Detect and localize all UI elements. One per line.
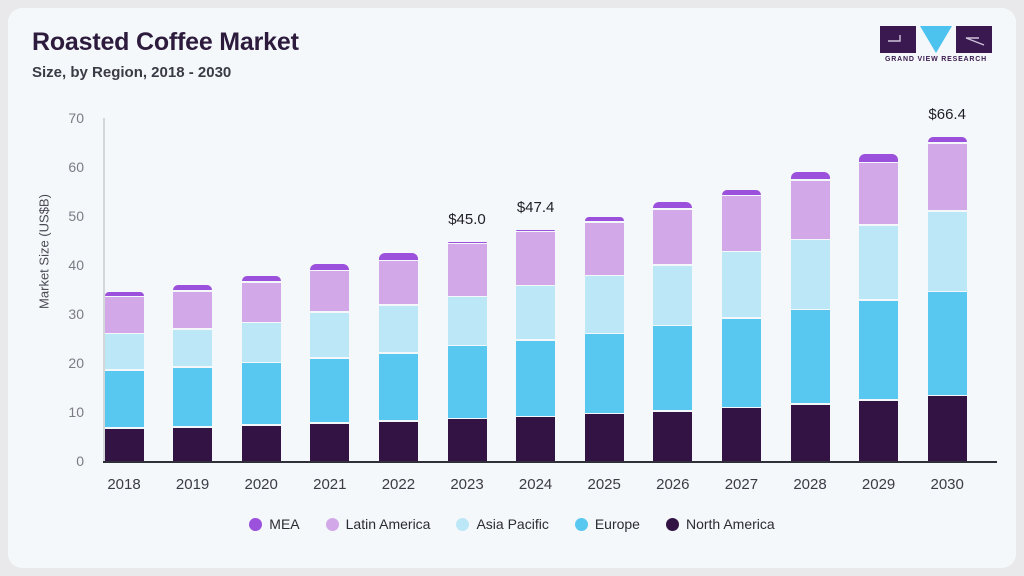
legend-swatch-icon <box>326 518 339 531</box>
legend-swatch-icon <box>575 518 588 531</box>
y-axis-tick-60: 60 <box>44 159 84 175</box>
bar-segment-2025-north-america[interactable] <box>585 414 624 461</box>
y-axis-tick-10: 10 <box>44 404 84 420</box>
bar-segment-2024-latin-america[interactable] <box>516 232 555 284</box>
bar-segment-2023-asia-pacific[interactable] <box>448 297 487 345</box>
bar-segment-2026-north-america[interactable] <box>653 412 692 461</box>
bar-segment-2022-mea[interactable] <box>379 253 418 259</box>
legend-item-europe[interactable]: Europe <box>575 516 640 532</box>
bar-segment-2028-north-america[interactable] <box>791 405 830 461</box>
legend-label: MEA <box>269 516 299 532</box>
legend-label: Europe <box>595 516 640 532</box>
bar-segment-2030-north-america[interactable] <box>928 396 967 461</box>
bar-segment-2019-asia-pacific[interactable] <box>173 330 212 367</box>
legend-label: North America <box>686 516 775 532</box>
legend-item-latin-america[interactable]: Latin America <box>326 516 431 532</box>
legend-swatch-icon <box>249 518 262 531</box>
bar-segment-2020-asia-pacific[interactable] <box>242 323 281 361</box>
bar-segment-2023-north-america[interactable] <box>448 419 487 461</box>
bar-segment-2021-north-america[interactable] <box>310 424 349 461</box>
bar-segment-2027-europe[interactable] <box>722 319 761 407</box>
legend-label: Latin America <box>346 516 431 532</box>
legend-item-asia-pacific[interactable]: Asia Pacific <box>456 516 548 532</box>
bar-segment-2027-mea[interactable] <box>722 190 761 195</box>
bar-segment-2024-north-america[interactable] <box>516 417 555 461</box>
legend-swatch-icon <box>456 518 469 531</box>
bar-segment-2022-europe[interactable] <box>379 354 418 421</box>
chart-card: Roasted Coffee Market Size, by Region, 2… <box>8 8 1016 568</box>
bar-segment-2029-mea[interactable] <box>859 154 898 161</box>
bar-segment-2030-mea[interactable] <box>928 137 967 142</box>
bar-segment-2030-europe[interactable] <box>928 292 967 394</box>
y-axis-tick-30: 30 <box>44 306 84 322</box>
bar-segment-2027-north-america[interactable] <box>722 408 761 461</box>
bar-segment-2018-mea[interactable] <box>105 292 144 296</box>
y-axis-tick-50: 50 <box>44 208 84 224</box>
bar-segment-2029-latin-america[interactable] <box>859 163 898 224</box>
bar-segment-2020-europe[interactable] <box>242 363 281 424</box>
stacked-bar-chart: Market Size (US$B) 010203040506070201820… <box>8 8 1016 568</box>
bar-segment-2028-europe[interactable] <box>791 310 830 403</box>
y-axis-tick-0: 0 <box>44 453 84 469</box>
bar-segment-2029-north-america[interactable] <box>859 401 898 461</box>
legend-item-north-america[interactable]: North America <box>666 516 775 532</box>
bar-segment-2025-mea[interactable] <box>585 217 624 222</box>
bar-value-label-2030: $66.4 <box>902 106 992 123</box>
y-axis-tick-70: 70 <box>44 110 84 126</box>
bar-segment-2030-asia-pacific[interactable] <box>928 212 967 291</box>
bar-value-label-2024: $47.4 <box>491 199 581 216</box>
bar-segment-2029-asia-pacific[interactable] <box>859 226 898 299</box>
bar-segment-2025-latin-america[interactable] <box>585 223 624 275</box>
bar-segment-2024-mea[interactable] <box>516 230 555 231</box>
bar-segment-2023-europe[interactable] <box>448 346 487 418</box>
bar-segment-2024-europe[interactable] <box>516 341 555 416</box>
bar-segment-2026-mea[interactable] <box>653 202 692 208</box>
bar-segment-2028-latin-america[interactable] <box>791 181 830 239</box>
bar-segment-2026-europe[interactable] <box>653 326 692 410</box>
bar-segment-2022-latin-america[interactable] <box>379 261 418 304</box>
bar-segment-2026-asia-pacific[interactable] <box>653 266 692 325</box>
bar-segment-2018-latin-america[interactable] <box>105 297 144 332</box>
bar-segment-2029-europe[interactable] <box>859 301 898 399</box>
bar-segment-2020-mea[interactable] <box>242 276 281 281</box>
bar-segment-2019-europe[interactable] <box>173 368 212 426</box>
bar-segment-2021-mea[interactable] <box>310 264 349 270</box>
bar-segment-2024-asia-pacific[interactable] <box>516 286 555 339</box>
bar-segment-2028-asia-pacific[interactable] <box>791 240 830 309</box>
y-axis-tick-20: 20 <box>44 355 84 371</box>
bar-segment-2021-europe[interactable] <box>310 359 349 423</box>
bar-segment-2026-latin-america[interactable] <box>653 210 692 264</box>
bar-segment-2019-mea[interactable] <box>173 285 212 290</box>
bar-segment-2021-latin-america[interactable] <box>310 271 349 311</box>
bar-segment-2020-latin-america[interactable] <box>242 283 281 322</box>
bar-segment-2030-latin-america[interactable] <box>928 144 967 211</box>
y-axis-tick-40: 40 <box>44 257 84 273</box>
bar-segment-2025-asia-pacific[interactable] <box>585 276 624 332</box>
bar-segment-2027-latin-america[interactable] <box>722 196 761 250</box>
legend-label: Asia Pacific <box>476 516 548 532</box>
bar-segment-2021-asia-pacific[interactable] <box>310 313 349 358</box>
bar-segment-2023-mea[interactable] <box>448 242 487 243</box>
bar-segment-2018-asia-pacific[interactable] <box>105 334 144 369</box>
bar-segment-2027-asia-pacific[interactable] <box>722 252 761 317</box>
bar-segment-2022-asia-pacific[interactable] <box>379 306 418 353</box>
bar-segment-2018-north-america[interactable] <box>105 429 144 461</box>
bar-segment-2028-mea[interactable] <box>791 172 830 179</box>
bar-segment-2025-europe[interactable] <box>585 334 624 413</box>
bar-segment-2019-latin-america[interactable] <box>173 292 212 329</box>
x-axis-line <box>103 461 997 463</box>
bar-segment-2019-north-america[interactable] <box>173 428 212 461</box>
chart-legend: MEALatin AmericaAsia PacificEuropeNorth … <box>8 516 1016 532</box>
x-axis-tick-2030: 2030 <box>902 476 992 493</box>
legend-item-mea[interactable]: MEA <box>249 516 299 532</box>
bar-segment-2022-north-america[interactable] <box>379 422 418 461</box>
bar-segment-2020-north-america[interactable] <box>242 426 281 461</box>
legend-swatch-icon <box>666 518 679 531</box>
bar-segment-2018-europe[interactable] <box>105 371 144 427</box>
bar-segment-2023-latin-america[interactable] <box>448 244 487 295</box>
